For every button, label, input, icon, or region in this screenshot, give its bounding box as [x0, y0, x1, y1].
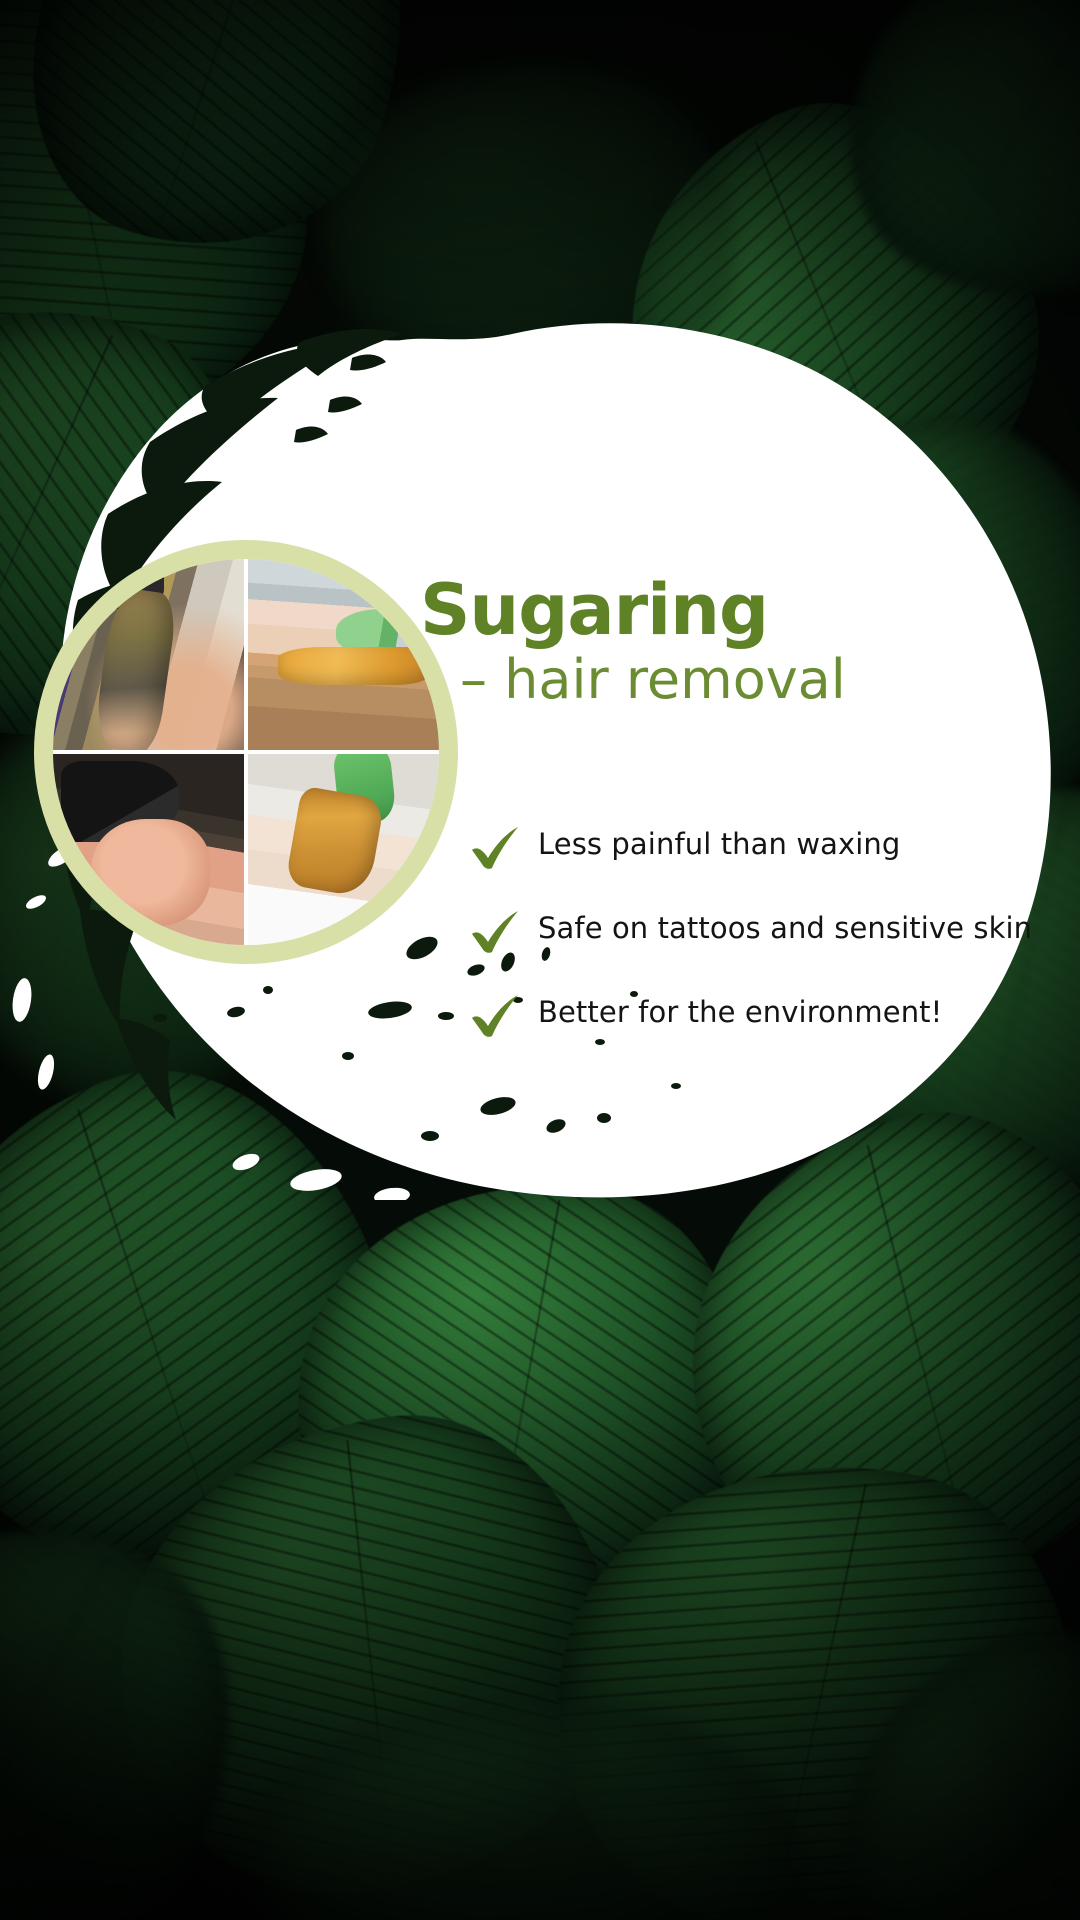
page-title: Sugaring	[420, 575, 1040, 646]
benefits-list: Less painful than waxing Safe on tattoos…	[468, 822, 1068, 1074]
poster-canvas: Sugaring – hair removal Less painful tha…	[0, 0, 1080, 1920]
benefit-item-1: Less painful than waxing	[468, 822, 1068, 872]
photo-tattooed-arm-sugaring	[53, 559, 245, 751]
benefit-label-3: Better for the environment!	[538, 990, 942, 1031]
benefit-label-1: Less painful than waxing	[538, 822, 900, 863]
photo-leg-sugar-paste-application	[248, 559, 440, 751]
photo-lower-leg-sugaring	[248, 754, 440, 946]
grid-divider-horizontal	[53, 750, 439, 754]
check-icon	[468, 908, 524, 956]
check-icon	[468, 992, 524, 1040]
poster-content: Sugaring – hair removal Less painful tha…	[0, 0, 1080, 1920]
benefit-item-3: Better for the environment!	[468, 990, 1068, 1040]
benefit-item-2: Safe on tattoos and sensitive skin	[468, 906, 1068, 956]
check-icon	[468, 824, 524, 872]
photo-facial-sugaring	[53, 754, 245, 946]
benefit-label-2: Safe on tattoos and sensitive skin	[538, 906, 1032, 947]
photo-grid	[53, 559, 439, 945]
title-block: Sugaring – hair removal	[420, 575, 1040, 709]
page-subtitle: – hair removal	[460, 652, 1040, 709]
photo-collage	[34, 540, 458, 964]
